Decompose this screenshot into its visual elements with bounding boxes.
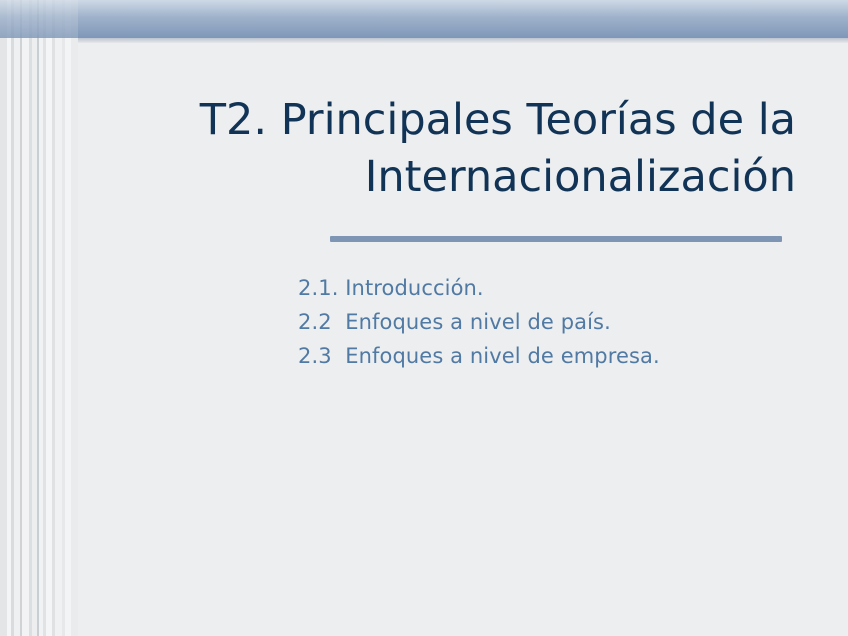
list-item: 2.1. Introducción. (298, 276, 798, 310)
list-item: 2.2 Enfoques a nivel de país. (298, 310, 798, 344)
slide-content: T2. Principales Teorías de la Internacio… (0, 0, 848, 636)
slide-bullet-list: 2.1. Introducción. 2.2 Enfoques a nivel … (298, 276, 798, 378)
slide: T2. Principales Teorías de la Internacio… (0, 0, 848, 636)
list-item: 2.3 Enfoques a nivel de empresa. (298, 344, 798, 378)
slide-title: T2. Principales Teorías de la Internacio… (96, 92, 796, 206)
title-underline-rule (330, 236, 782, 242)
slide-title-line-2: Internacionalización (96, 149, 796, 206)
slide-title-line-1: T2. Principales Teorías de la (96, 92, 796, 149)
